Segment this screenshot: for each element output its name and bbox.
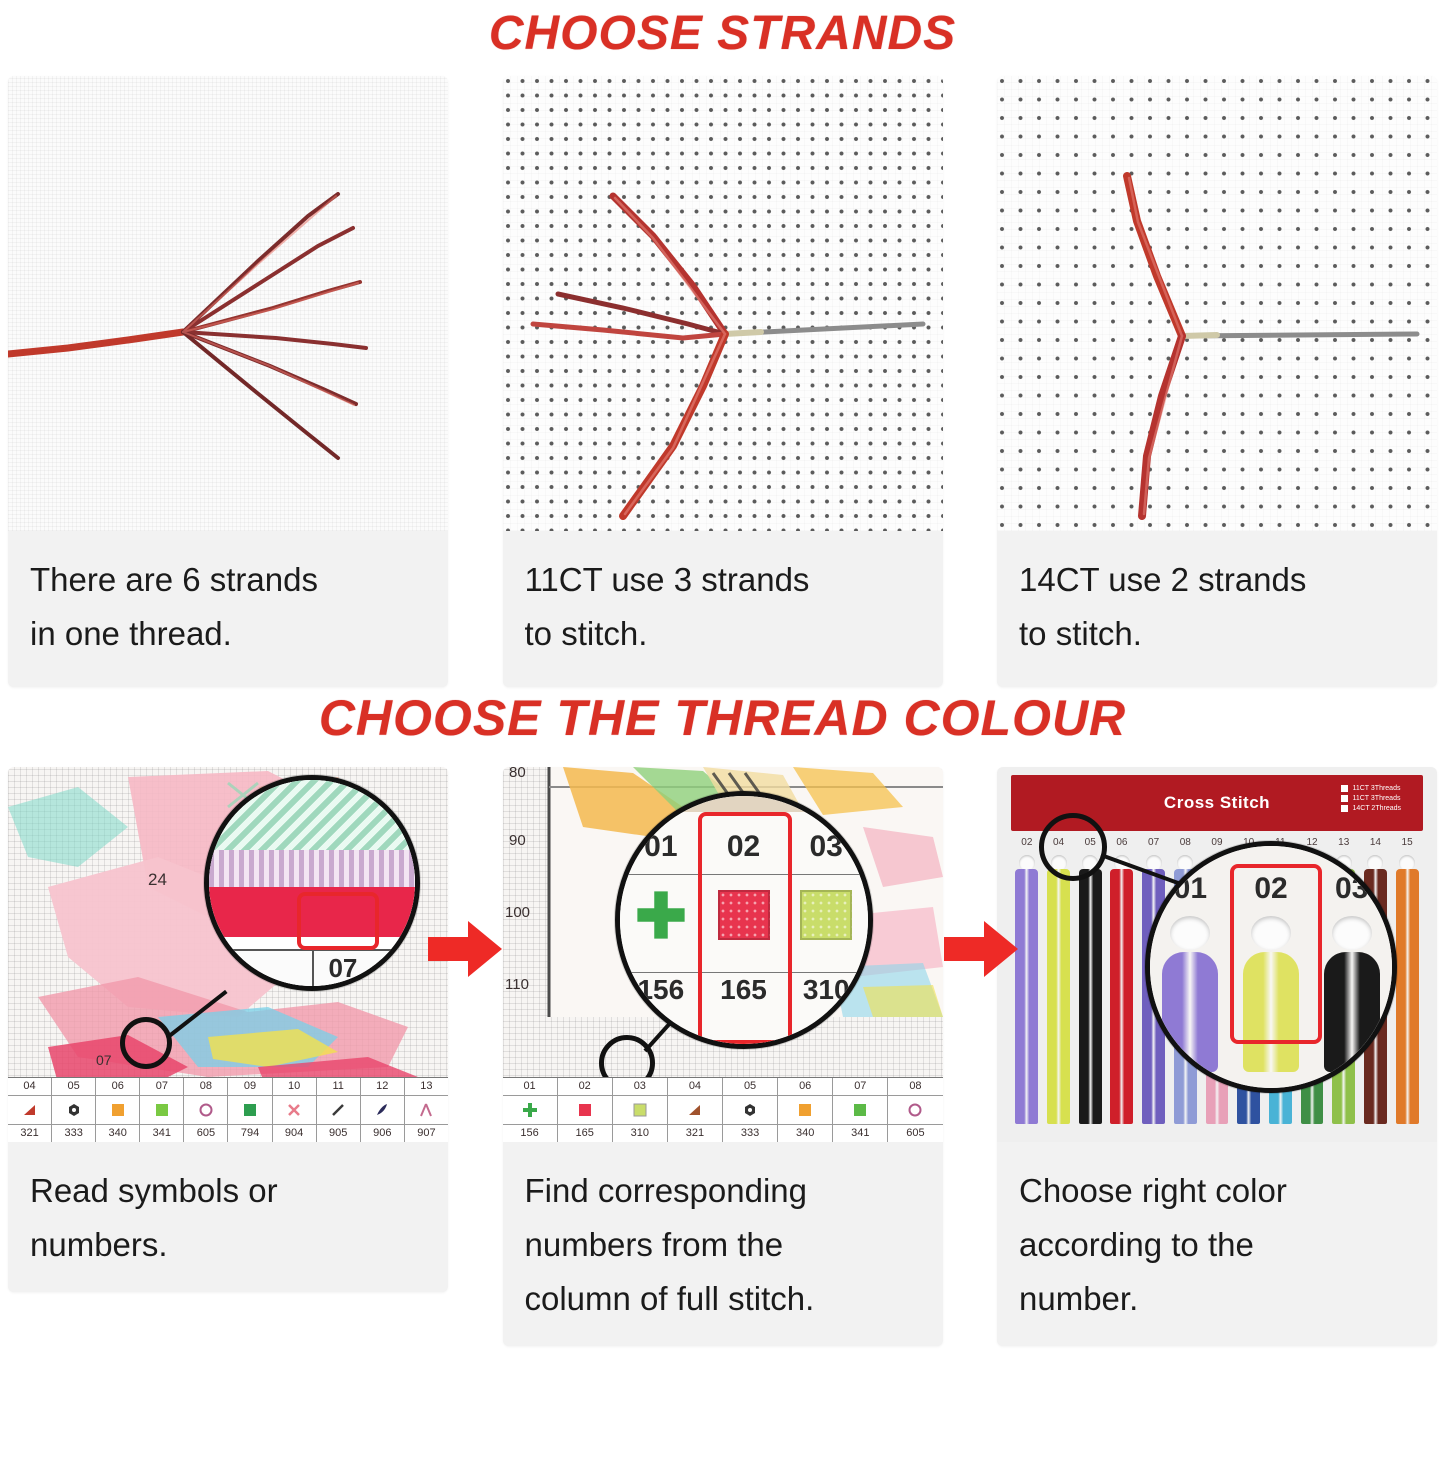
skein: [1391, 851, 1423, 1124]
magnifier-lens-3: 010203: [1145, 841, 1397, 1093]
legend-colour-codes-2: 156165310321333340341605: [503, 1125, 943, 1142]
legend-column-number: 12: [361, 1078, 405, 1095]
magnifier-target-circle: [120, 1017, 172, 1069]
magnifier-target-circle-3: [1039, 813, 1107, 881]
legend-symbol-cell: [833, 1095, 888, 1125]
legend-code-cell: 321: [8, 1125, 52, 1142]
legend-symbol-cell: [361, 1095, 405, 1125]
thread-card-option-label: 14CT 2Threads: [1352, 805, 1401, 812]
arrow-right-icon-1: [428, 917, 502, 981]
legend-symbol-cell: [668, 1095, 723, 1125]
legend-column-number: 08: [184, 1078, 228, 1095]
legend-symbol-cell: [184, 1095, 228, 1125]
legend-symbol-cell: [96, 1095, 140, 1125]
magnifier-lens: 3 07: [204, 775, 420, 991]
caption-six-strands: There are 6 strandsin one thread.: [8, 531, 448, 687]
magnified-thread-number: 01: [1174, 872, 1207, 906]
legend-code-cell: 605: [184, 1125, 228, 1142]
legend-symbol-cell: [778, 1095, 833, 1125]
card-14ct-two-strands: 14CT use 2 strandsto stitch.: [997, 76, 1437, 687]
skein-floss: [1396, 869, 1419, 1124]
legend-code-cell: 165: [558, 1125, 613, 1142]
thread-card-option-label: 11CT 3Threads: [1352, 785, 1400, 792]
three-strands-needle-illustration: [503, 76, 943, 531]
card-choose-color: Cross Stitch 11CT 3Threads11CT 3Threads1…: [997, 767, 1437, 1346]
legend-symbol-cell: [8, 1095, 52, 1125]
skein-floss: [1110, 869, 1133, 1124]
svg-text:100: 100: [505, 904, 530, 921]
magnified-column-code: 165: [720, 974, 767, 1006]
checkbox-icon[interactable]: [1341, 785, 1348, 792]
legend-symbol-cell: [140, 1095, 184, 1125]
legend-code-cell: 341: [140, 1125, 184, 1142]
legend-code-cell: 341: [833, 1125, 888, 1142]
magnified-symbol-chip: [630, 886, 692, 944]
checkbox-icon[interactable]: [1341, 805, 1348, 812]
photo-11ct-three-strands: [503, 76, 943, 531]
arrow-right-icon-2: [944, 917, 1018, 981]
thread-card-title: Cross Stitch: [1164, 793, 1270, 813]
thread-card-option[interactable]: 11CT 3Threads: [1341, 795, 1401, 802]
magnified-column-code: 156: [637, 974, 684, 1006]
legend-column-number: 07: [140, 1078, 184, 1095]
thread-card-options: 11CT 3Threads11CT 3Threads14CT 2Threads: [1341, 785, 1401, 815]
legend-symbol-cell: [405, 1095, 448, 1125]
svg-text:07: 07: [96, 1052, 112, 1068]
legend-code-cell: 333: [52, 1125, 96, 1142]
card-six-strands: There are 6 strandsin one thread.: [8, 76, 448, 687]
legend-symbols: [8, 1095, 448, 1125]
legend-code-cell: 340: [778, 1125, 833, 1142]
legend-code-cell: 321: [668, 1125, 723, 1142]
legend-column-number: 11: [317, 1078, 361, 1095]
legend-column-number: 13: [405, 1078, 448, 1095]
legend-code-cell: 605: [888, 1125, 942, 1142]
magnified-thread-skein: [1324, 952, 1380, 1072]
magnified-thread-column: 02: [1231, 846, 1312, 1088]
legend-colour-codes: 321333340341605794904905906907: [8, 1125, 448, 1142]
legend-column-number: 06: [96, 1078, 140, 1095]
legend-code-cell: 340: [96, 1125, 140, 1142]
magnified-column-number: 03: [809, 830, 842, 864]
legend-column-number: 05: [52, 1078, 96, 1095]
legend-column-number: 10: [273, 1078, 317, 1095]
legend-symbol-cell: [317, 1095, 361, 1125]
magnified-column-number: 02: [727, 830, 760, 864]
magnified-legend-cells: 011560216503310: [620, 796, 868, 1044]
legend-symbol-cell: [273, 1095, 317, 1125]
magnifier-lens-2: 011560216503310: [615, 791, 873, 1049]
legend-symbol-cell: [888, 1095, 942, 1125]
pattern-legend-strip-2: 0102030405060708 15616531032133334034160…: [503, 1077, 943, 1142]
needle-eye: [725, 332, 761, 334]
legend-column-number: 04: [668, 1078, 723, 1095]
magnified-legend-column: 02165: [702, 796, 785, 1044]
legend-code-cell: 333: [723, 1125, 778, 1142]
magnifier-label-left: 3: [221, 953, 235, 984]
magnified-thread-number: 02: [1254, 872, 1287, 906]
card-read-symbols: 24 07 3 07 0405060708091011121: [8, 767, 448, 1292]
photo-thread-organiser: Cross Stitch 11CT 3Threads11CT 3Threads1…: [997, 767, 1437, 1142]
legend-column-number: 03: [613, 1078, 668, 1095]
photo-14ct-two-strands: [997, 76, 1437, 531]
section-title-choose-strands: CHOOSE STRANDS: [0, 0, 1445, 64]
svg-text:80: 80: [509, 767, 526, 781]
skein-floss: [1015, 869, 1038, 1124]
legend-column-numbers-2: 0102030405060708: [503, 1078, 943, 1095]
skein: [1011, 851, 1043, 1124]
magnified-thread-cells: 010203: [1150, 846, 1392, 1088]
legend-column-number: 01: [503, 1078, 558, 1095]
caption-find-numbers: Find correspondingnumbers from thecolumn…: [503, 1142, 943, 1346]
magnified-thread-number: 03: [1335, 872, 1368, 906]
skein: [1043, 851, 1075, 1124]
photo-six-strands: [8, 76, 448, 531]
legend-code-cell: 905: [317, 1125, 361, 1142]
needle-eye: [1182, 335, 1217, 336]
magnified-legend-column: 03310: [785, 796, 868, 1044]
magnified-thread-skein: [1162, 952, 1218, 1072]
legend-symbol-cell: [613, 1095, 668, 1125]
svg-text:24: 24: [148, 870, 167, 889]
legend-column-number: 07: [833, 1078, 888, 1095]
svg-text:90: 90: [509, 832, 526, 849]
legend-column-number: 02: [558, 1078, 613, 1095]
thread-card-option[interactable]: 11CT 3Threads: [1341, 785, 1401, 792]
legend-column-number: 04: [8, 1078, 52, 1095]
legend-symbol-cell: [723, 1095, 778, 1125]
strands-card-row: There are 6 strandsin one thread. 1: [0, 76, 1445, 687]
six-strands-illustration: [8, 76, 448, 531]
skein: [1106, 851, 1138, 1124]
legend-symbols-2: [503, 1095, 943, 1125]
magnified-symbol-chip: [713, 886, 775, 944]
magnified-symbol-chip: [795, 886, 857, 944]
thread-card-option[interactable]: 14CT 2Threads: [1341, 805, 1401, 812]
legend-symbol-cell: [228, 1095, 272, 1125]
legend-column-number: 05: [723, 1078, 778, 1095]
colour-card-row: 24 07 3 07 0405060708091011121: [0, 767, 1445, 1346]
section-title-choose-thread-colour: CHOOSE THE THREAD COLOUR: [0, 687, 1445, 749]
legend-code-cell: 310: [613, 1125, 668, 1142]
legend-column-numbers: 04050607080910111213: [8, 1078, 448, 1095]
skein: [1074, 851, 1106, 1124]
magnified-thread-skein: [1243, 952, 1299, 1072]
pattern-legend-strip: 04050607080910111213 3213333403416057949…: [8, 1077, 448, 1142]
legend-code-cell: 907: [405, 1125, 448, 1142]
legend-column-number: 06: [778, 1078, 833, 1095]
legend-code-cell: 904: [273, 1125, 317, 1142]
legend-symbol-cell: [558, 1095, 613, 1125]
card-11ct-three-strands: 11CT use 3 strandsto stitch.: [503, 76, 943, 687]
photo-pattern-legend: 80 90 100 110 011560216503310 0102: [503, 767, 943, 1142]
skein-floss: [1079, 869, 1102, 1124]
magnified-thread-column: 03: [1311, 846, 1392, 1088]
skein-number: 06: [1106, 837, 1138, 848]
legend-symbol-cell: [503, 1095, 558, 1125]
legend-column-number: 08: [888, 1078, 942, 1095]
magnified-column-number: 01: [644, 830, 677, 864]
checkbox-icon[interactable]: [1341, 795, 1348, 802]
caption-14ct-two-strands: 14CT use 2 strandsto stitch.: [997, 531, 1437, 687]
magnifier-label-right: 07: [328, 953, 357, 984]
skein-number: 15: [1391, 837, 1423, 848]
svg-text:110: 110: [505, 976, 529, 993]
card-find-numbers: 80 90 100 110 011560216503310 0102: [503, 767, 943, 1346]
magnified-column-code: 310: [803, 974, 850, 1006]
magnified-card-hole: [1170, 916, 1210, 950]
magnified-legend-column: 01156: [620, 796, 703, 1044]
caption-choose-color: Choose right coloraccording to thenumber…: [997, 1142, 1437, 1346]
caption-11ct-three-strands: 11CT use 3 strandsto stitch.: [503, 531, 943, 687]
legend-column-number: 09: [228, 1078, 272, 1095]
legend-code-cell: 156: [503, 1125, 558, 1142]
legend-symbol-cell: [52, 1095, 96, 1125]
magnified-thread-column: 01: [1150, 846, 1231, 1088]
magnified-card-hole: [1332, 916, 1372, 950]
skein-floss: [1047, 869, 1070, 1124]
magnified-card-hole: [1251, 916, 1291, 950]
thread-card-option-label: 11CT 3Threads: [1352, 795, 1400, 802]
caption-read-symbols: Read symbols ornumbers.: [8, 1142, 448, 1292]
skein-number: 02: [1011, 837, 1043, 848]
two-strands-needle-illustration: [997, 76, 1437, 531]
legend-code-cell: 906: [361, 1125, 405, 1142]
photo-pattern-chart: 24 07 3 07 0405060708091011121: [8, 767, 448, 1142]
legend-code-cell: 794: [228, 1125, 272, 1142]
